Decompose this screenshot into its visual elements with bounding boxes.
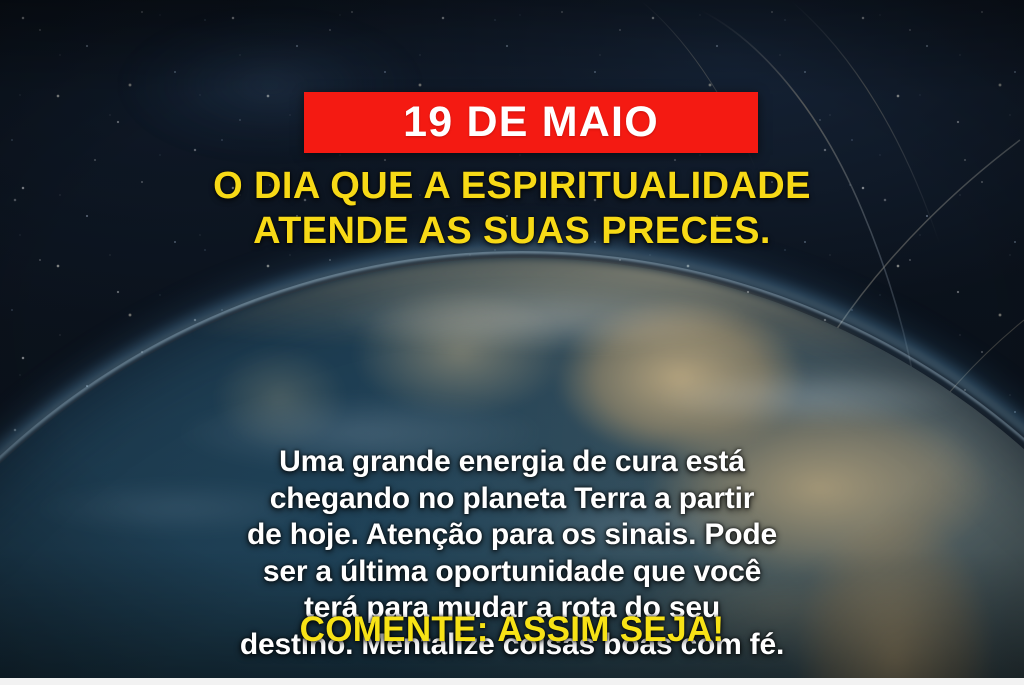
call-to-action: COMENTE: ASSIM SEJA! (62, 612, 962, 647)
bottom-edge-strip (0, 678, 1024, 685)
date-banner: 19 DE MAIO (304, 92, 758, 153)
body-line-3: de hoje. Atenção para os sinais. Pode (62, 517, 962, 554)
date-banner-label: 19 DE MAIO (403, 101, 659, 144)
body-line-2: chegando no planeta Terra a partir (62, 481, 962, 518)
headline: O DIA QUE A ESPIRITUALIDADE ATENDE AS SU… (62, 164, 962, 254)
body-line-4: ser a última oportunidade que você (62, 554, 962, 591)
headline-line-2: ATENDE AS SUAS PRECES. (62, 209, 962, 254)
headline-line-1: O DIA QUE A ESPIRITUALIDADE (62, 164, 962, 209)
poster-canvas: 19 DE MAIO O DIA QUE A ESPIRITUALIDADE A… (0, 0, 1024, 685)
body-line-1: Uma grande energia de cura está (62, 444, 962, 481)
poster-content: 19 DE MAIO O DIA QUE A ESPIRITUALIDADE A… (0, 0, 1024, 685)
